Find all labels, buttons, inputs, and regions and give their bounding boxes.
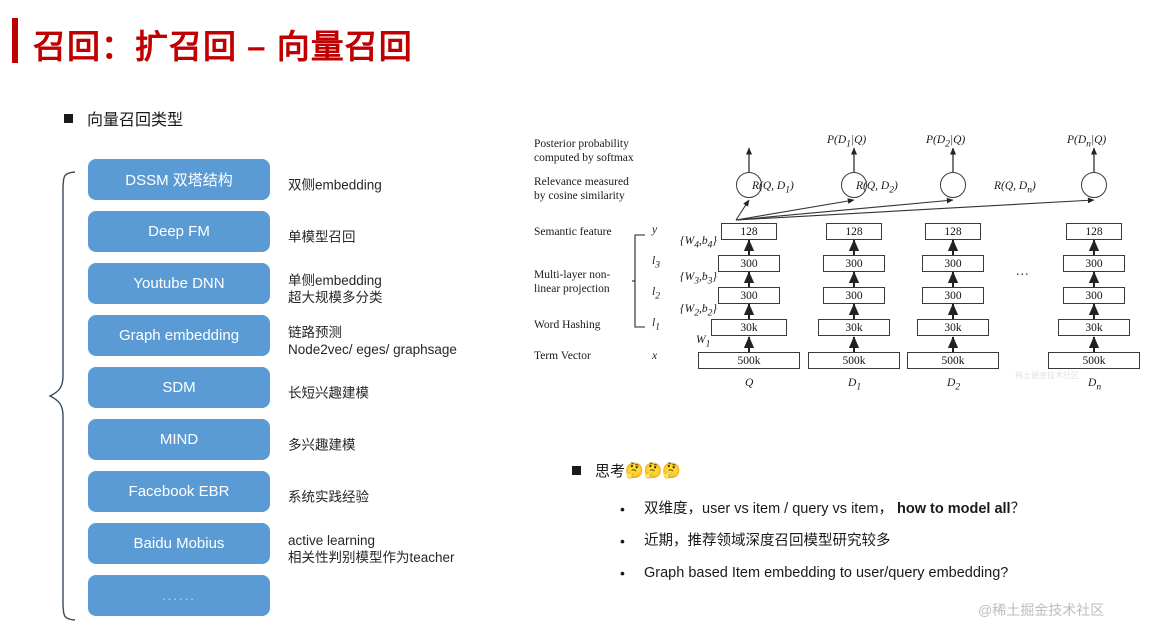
thinking-item-2: 近期，推荐领域深度召回模型研究较多 [616,525,1025,557]
note-graph-embedding: 链路预测 Node2vec/ eges/ graphsage [288,324,457,358]
layer-box-dn-300a: 300 [1063,255,1125,272]
title-accent-bar [12,18,18,63]
thinking-face-icon: 🤔🤔🤔 [625,463,681,480]
note-youtube-dnn: 单侧embedding 超大规模多分类 [288,272,383,306]
output-prob-d2: P(D2|Q) [926,134,965,151]
thinking-item-3-text: Graph based Item embedding to user/query… [644,565,1008,581]
note-line-1: 单侧embedding [288,272,383,289]
dssm-architecture-figure: Posterior probability computed by softma… [528,128,1158,398]
layer-box-dn-300b: 300 [1063,287,1125,304]
thinking-item-1-tail: ？ [1011,501,1026,517]
note-sdm: 长短兴趣建模 [288,385,369,402]
thinking-item-3: Graph based Item embedding to user/query… [616,557,1025,589]
layer-box-dn-30k: 30k [1058,319,1130,336]
thinking-item-1-text: 双维度，user vs item / query vs item， [644,501,897,517]
figure-watermark: 稀土掘金技术社区 [1015,370,1079,381]
pill-facebook-ebr[interactable]: Facebook EBR [88,471,270,512]
grouping-brace [48,170,78,627]
layer-box-d1-300b: 300 [823,287,885,304]
layer-box-q-300b: 300 [718,287,780,304]
column-ellipsis: ... [1016,264,1030,280]
layer-box-q-30k: 30k [711,319,787,336]
section-heading: 向量召回类型 [64,106,183,130]
pill-dssm[interactable]: DSSM 双塔结构 [88,159,270,200]
similarity-node-d2 [940,172,966,198]
note-line-1: 多兴趣建模 [288,437,356,454]
pill-graph-embedding[interactable]: Graph embedding [88,315,270,356]
section-heading-label: 向量召回类型 [87,112,183,129]
note-facebook-ebr: 系统实践经验 [288,489,369,506]
relevance-label-d2: R(Q, D2) [856,180,898,197]
note-line-2: 相关性判别模型作为teacher [288,549,455,566]
pill-sdm[interactable]: SDM [88,367,270,408]
relevance-label-dn: R(Q, Dn) [994,180,1036,197]
page-title: 召回：扩召回 – 向量召回 [33,20,413,68]
note-line-1: 单模型召回 [288,229,356,246]
thinking-item-2-text: 近期，推荐领域深度召回模型研究较多 [644,533,891,549]
layer-box-d1-128: 128 [826,223,882,240]
column-label-d1: D1 [848,377,861,394]
similarity-node-dn [1081,172,1107,198]
layer-box-d2-500k: 500k [907,352,999,369]
thinking-bullet-list: 双维度，user vs item / query vs item， how to… [616,493,1025,589]
layer-box-d2-300a: 300 [922,255,984,272]
pill-baidu-mobius[interactable]: Baidu Mobius [88,523,270,564]
layer-box-d1-300a: 300 [823,255,885,272]
layer-box-q-128: 128 [721,223,777,240]
layer-box-d1-30k: 30k [818,319,890,336]
note-mind: 多兴趣建模 [288,437,356,454]
note-dssm: 双侧embedding [288,177,382,194]
output-prob-d1: P(D1|Q) [827,134,866,151]
relevance-label-d1: R(Q, D1) [752,180,794,197]
note-line-1: 链路预测 [288,324,457,341]
column-label-dn: Dn [1088,377,1101,394]
layer-box-q-300a: 300 [718,255,780,272]
site-watermark: @稀土掘金技术社区 [978,600,1104,620]
square-bullet-icon [64,114,73,123]
note-baidu-mobius: active learning 相关性判别模型作为teacher [288,532,455,566]
pill-youtube-dnn[interactable]: Youtube DNN [88,263,270,304]
note-line-1: 长短兴趣建模 [288,385,369,402]
note-line-2: Node2vec/ eges/ graphsage [288,341,457,358]
thinking-item-1-bold: how to model all [897,501,1011,517]
pill-mind[interactable]: MIND [88,419,270,460]
pill-deepfm[interactable]: Deep FM [88,211,270,252]
column-label-q: Q [745,377,753,391]
thinking-heading: 思考🤔🤔🤔 [572,460,681,481]
column-label-d2: D2 [947,377,960,394]
note-line-1: 双侧embedding [288,177,382,194]
note-line-1: 系统实践经验 [288,489,369,506]
layer-box-q-500k: 500k [698,352,800,369]
thinking-item-1: 双维度，user vs item / query vs item， how to… [616,493,1025,525]
note-deepfm: 单模型召回 [288,229,356,246]
layer-box-d2-300b: 300 [922,287,984,304]
layer-box-d2-30k: 30k [917,319,989,336]
output-prob-dn: P(Dn|Q) [1067,134,1106,151]
note-line-1: active learning [288,532,455,549]
layer-box-d2-128: 128 [925,223,981,240]
layer-box-dn-500k: 500k [1048,352,1140,369]
slide-canvas: 召回：扩召回 – 向量召回 向量召回类型 DSSM 双塔结构 双侧embeddi… [0,0,1166,638]
layer-box-d1-500k: 500k [808,352,900,369]
note-line-2: 超大规模多分类 [288,289,383,306]
pill-more[interactable]: ...... [88,575,270,616]
thinking-heading-label: 思考 [595,463,625,480]
layer-box-dn-128: 128 [1066,223,1122,240]
square-bullet-icon [572,466,581,475]
